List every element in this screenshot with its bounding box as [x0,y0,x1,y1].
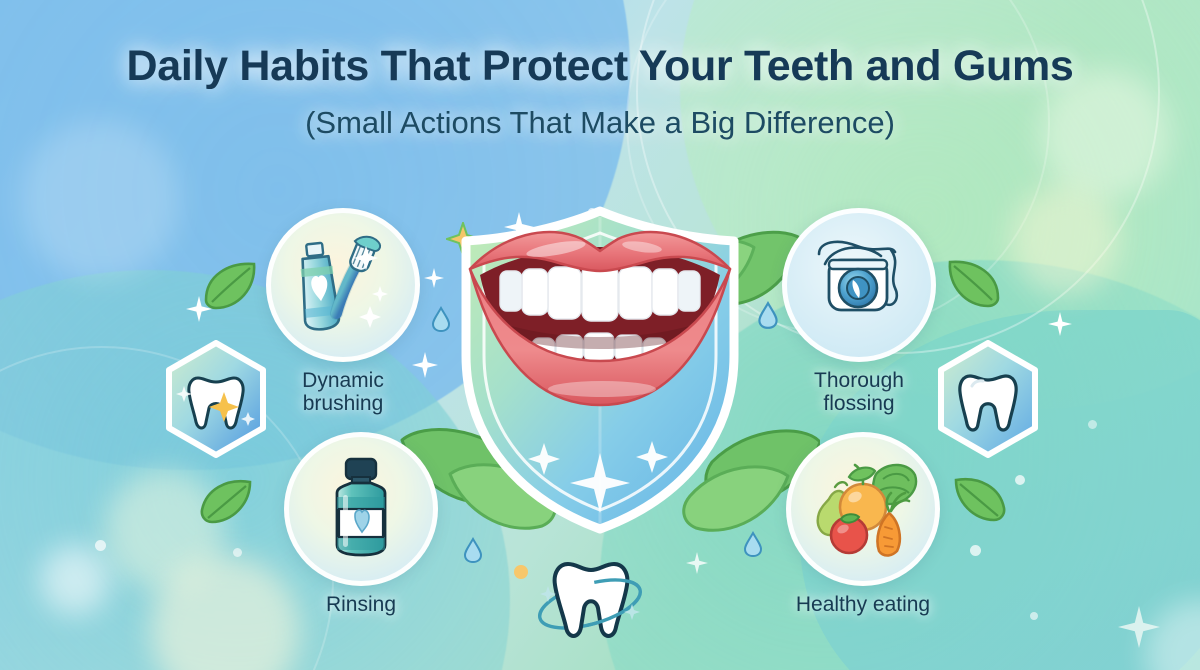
sparkle-icon-white-4 [1048,312,1072,336]
habit-label-line1: Healthy eating [786,594,940,617]
habit-label-brushing: Dynamic brushing [266,370,420,415]
habit-label-rinsing: Rinsing [284,594,438,617]
tooth-hex-icon [934,340,1042,458]
accent-dot-orange [514,565,528,579]
bubble-dot-7 [1088,420,1097,429]
infographic-poster: Daily Habits That Protect Your Teeth and… [0,0,1200,670]
habit-card-rinsing[interactable]: Rinsing [284,432,438,617]
dental-floss-icon [782,208,936,362]
bubble-dot-2 [233,548,242,557]
leaf-icon-right-upper [944,256,1004,312]
toothbrush-toothpaste-icon [266,208,420,362]
bubble-dot-5 [1030,612,1038,620]
bokeh-light-7 [20,120,180,280]
habit-card-flossing[interactable]: Thorough flossing [782,208,936,415]
protection-shield [452,205,748,535]
leaf-icon-right-lower [950,474,1008,526]
mouthwash-bottle-icon [284,432,438,586]
habit-card-brushing[interactable]: Dynamic brushing [266,208,420,415]
page-subtitle: (Small Actions That Make a Big Differenc… [0,105,1200,141]
habit-label-eating: Healthy eating [786,594,940,617]
page-title: Daily Habits That Protect Your Teeth and… [0,42,1200,91]
bubble-dot-3 [1015,475,1025,485]
habit-label-line2: brushing [266,393,420,416]
bokeh-light-1 [40,545,110,615]
tooth-sparkle-hex-icon [162,340,270,458]
tooth-orbit-icon [528,546,652,654]
sparkle-icon-white-3 [186,296,212,322]
habit-label-line1: Thorough [782,370,936,393]
bokeh-light-5 [1010,185,1120,295]
leaf-icon-left-lower [198,476,254,528]
habit-label-flossing: Thorough flossing [782,370,936,415]
habit-label-line2: flossing [782,393,936,416]
bubble-dot-1 [95,540,106,551]
title-block: Daily Habits That Protect Your Teeth and… [0,42,1200,141]
habit-label-line1: Rinsing [284,594,438,617]
sparkle-icon-white-5 [1118,606,1160,648]
fruits-vegetables-icon [786,432,940,586]
bubble-dot-4 [970,545,981,556]
habit-card-eating[interactable]: Healthy eating [786,432,940,617]
habit-label-line1: Dynamic [266,370,420,393]
